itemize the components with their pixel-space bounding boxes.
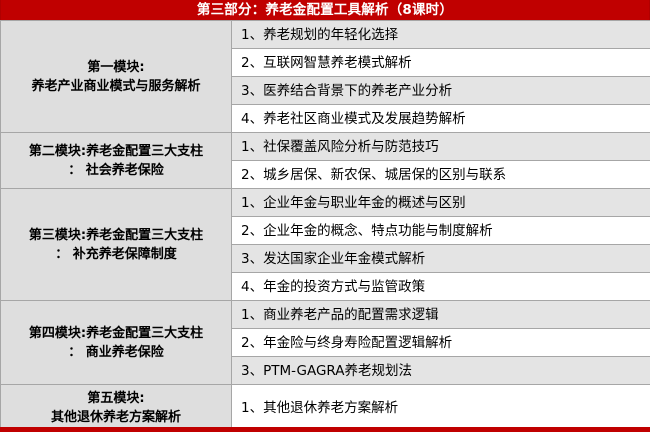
topic-cell: 3、发达国家企业年金模式解析 [232, 245, 650, 273]
module-title-line: 第二模块:养老金配置三大支柱 [5, 142, 227, 161]
module-title-line: ： 社会养老保险 [5, 161, 227, 180]
module-title-line: 第三模块:养老金配置三大支柱 [5, 226, 227, 245]
module-title-line: ： 商业养老保险 [5, 343, 227, 362]
topic-cell: 1、社保覆盖风险分析与防范技巧 [232, 133, 650, 161]
table-row: 第一模块: 养老产业商业模式与服务解析 1、养老规划的年轻化选择 [1, 21, 650, 49]
topic-cell: 1、养老规划的年轻化选择 [232, 21, 650, 49]
topic-cell: 3、PTM-GAGRA养老规划法 [232, 357, 650, 385]
footer-accent-bar [0, 427, 650, 432]
topic-cell: 4、年金的投资方式与监管政策 [232, 273, 650, 301]
module-cell-4: 第四模块:养老金配置三大支柱 ： 商业养老保险 [1, 301, 232, 385]
topic-cell: 1、企业年金与职业年金的概述与区别 [232, 189, 650, 217]
topic-cell: 4、养老社区商业模式及发展趋势解析 [232, 105, 650, 133]
module-cell-3: 第三模块:养老金配置三大支柱 ： 补充养老保障制度 [1, 189, 232, 301]
module-title-line: 第四模块:养老金配置三大支柱 [5, 324, 227, 343]
module-cell-1: 第一模块: 养老产业商业模式与服务解析 [1, 21, 232, 133]
table-row: 第二模块:养老金配置三大支柱 ： 社会养老保险 1、社保覆盖风险分析与防范技巧 [1, 133, 650, 161]
table-row: 第五模块: 其他退休养老方案解析 1、其他退休养老方案解析 [1, 385, 650, 432]
topic-cell: 1、其他退休养老方案解析 [232, 385, 650, 432]
module-title-line: 第一模块: [5, 58, 227, 77]
topic-cell: 2、城乡居保、新农保、城居保的区别与联系 [232, 161, 650, 189]
table-row: 第三模块:养老金配置三大支柱 ： 补充养老保障制度 1、企业年金与职业年金的概述… [1, 189, 650, 217]
module-title-line: 其他退休养老方案解析 [5, 408, 227, 427]
module-cell-2: 第二模块:养老金配置三大支柱 ： 社会养老保险 [1, 133, 232, 189]
topic-cell: 2、年金险与终身寿险配置逻辑解析 [232, 329, 650, 357]
table-row: 第四模块:养老金配置三大支柱 ： 商业养老保险 1、商业养老产品的配置需求逻辑 [1, 301, 650, 329]
course-schedule-table: 第一模块: 养老产业商业模式与服务解析 1、养老规划的年轻化选择 2、互联网智慧… [0, 20, 650, 432]
table-body: 第一模块: 养老产业商业模式与服务解析 1、养老规划的年轻化选择 2、互联网智慧… [1, 21, 650, 432]
topic-cell: 3、医养结合背景下的养老产业分析 [232, 77, 650, 105]
topic-cell: 1、商业养老产品的配置需求逻辑 [232, 301, 650, 329]
course-outline-sheet: 第三部分：养老金配置工具解析（8课时） 第一模块: 养老产业商业模式与服务解析 … [0, 0, 650, 432]
module-cell-5: 第五模块: 其他退休养老方案解析 [1, 385, 232, 432]
topic-cell: 2、互联网智慧养老模式解析 [232, 49, 650, 77]
module-title-line: 养老产业商业模式与服务解析 [5, 77, 227, 96]
section-title-bar: 第三部分：养老金配置工具解析（8课时） [0, 0, 650, 20]
module-title-line: 第五模块: [5, 389, 227, 408]
module-title-line: ： 补充养老保障制度 [5, 245, 227, 264]
topic-cell: 2、企业年金的概念、特点功能与制度解析 [232, 217, 650, 245]
